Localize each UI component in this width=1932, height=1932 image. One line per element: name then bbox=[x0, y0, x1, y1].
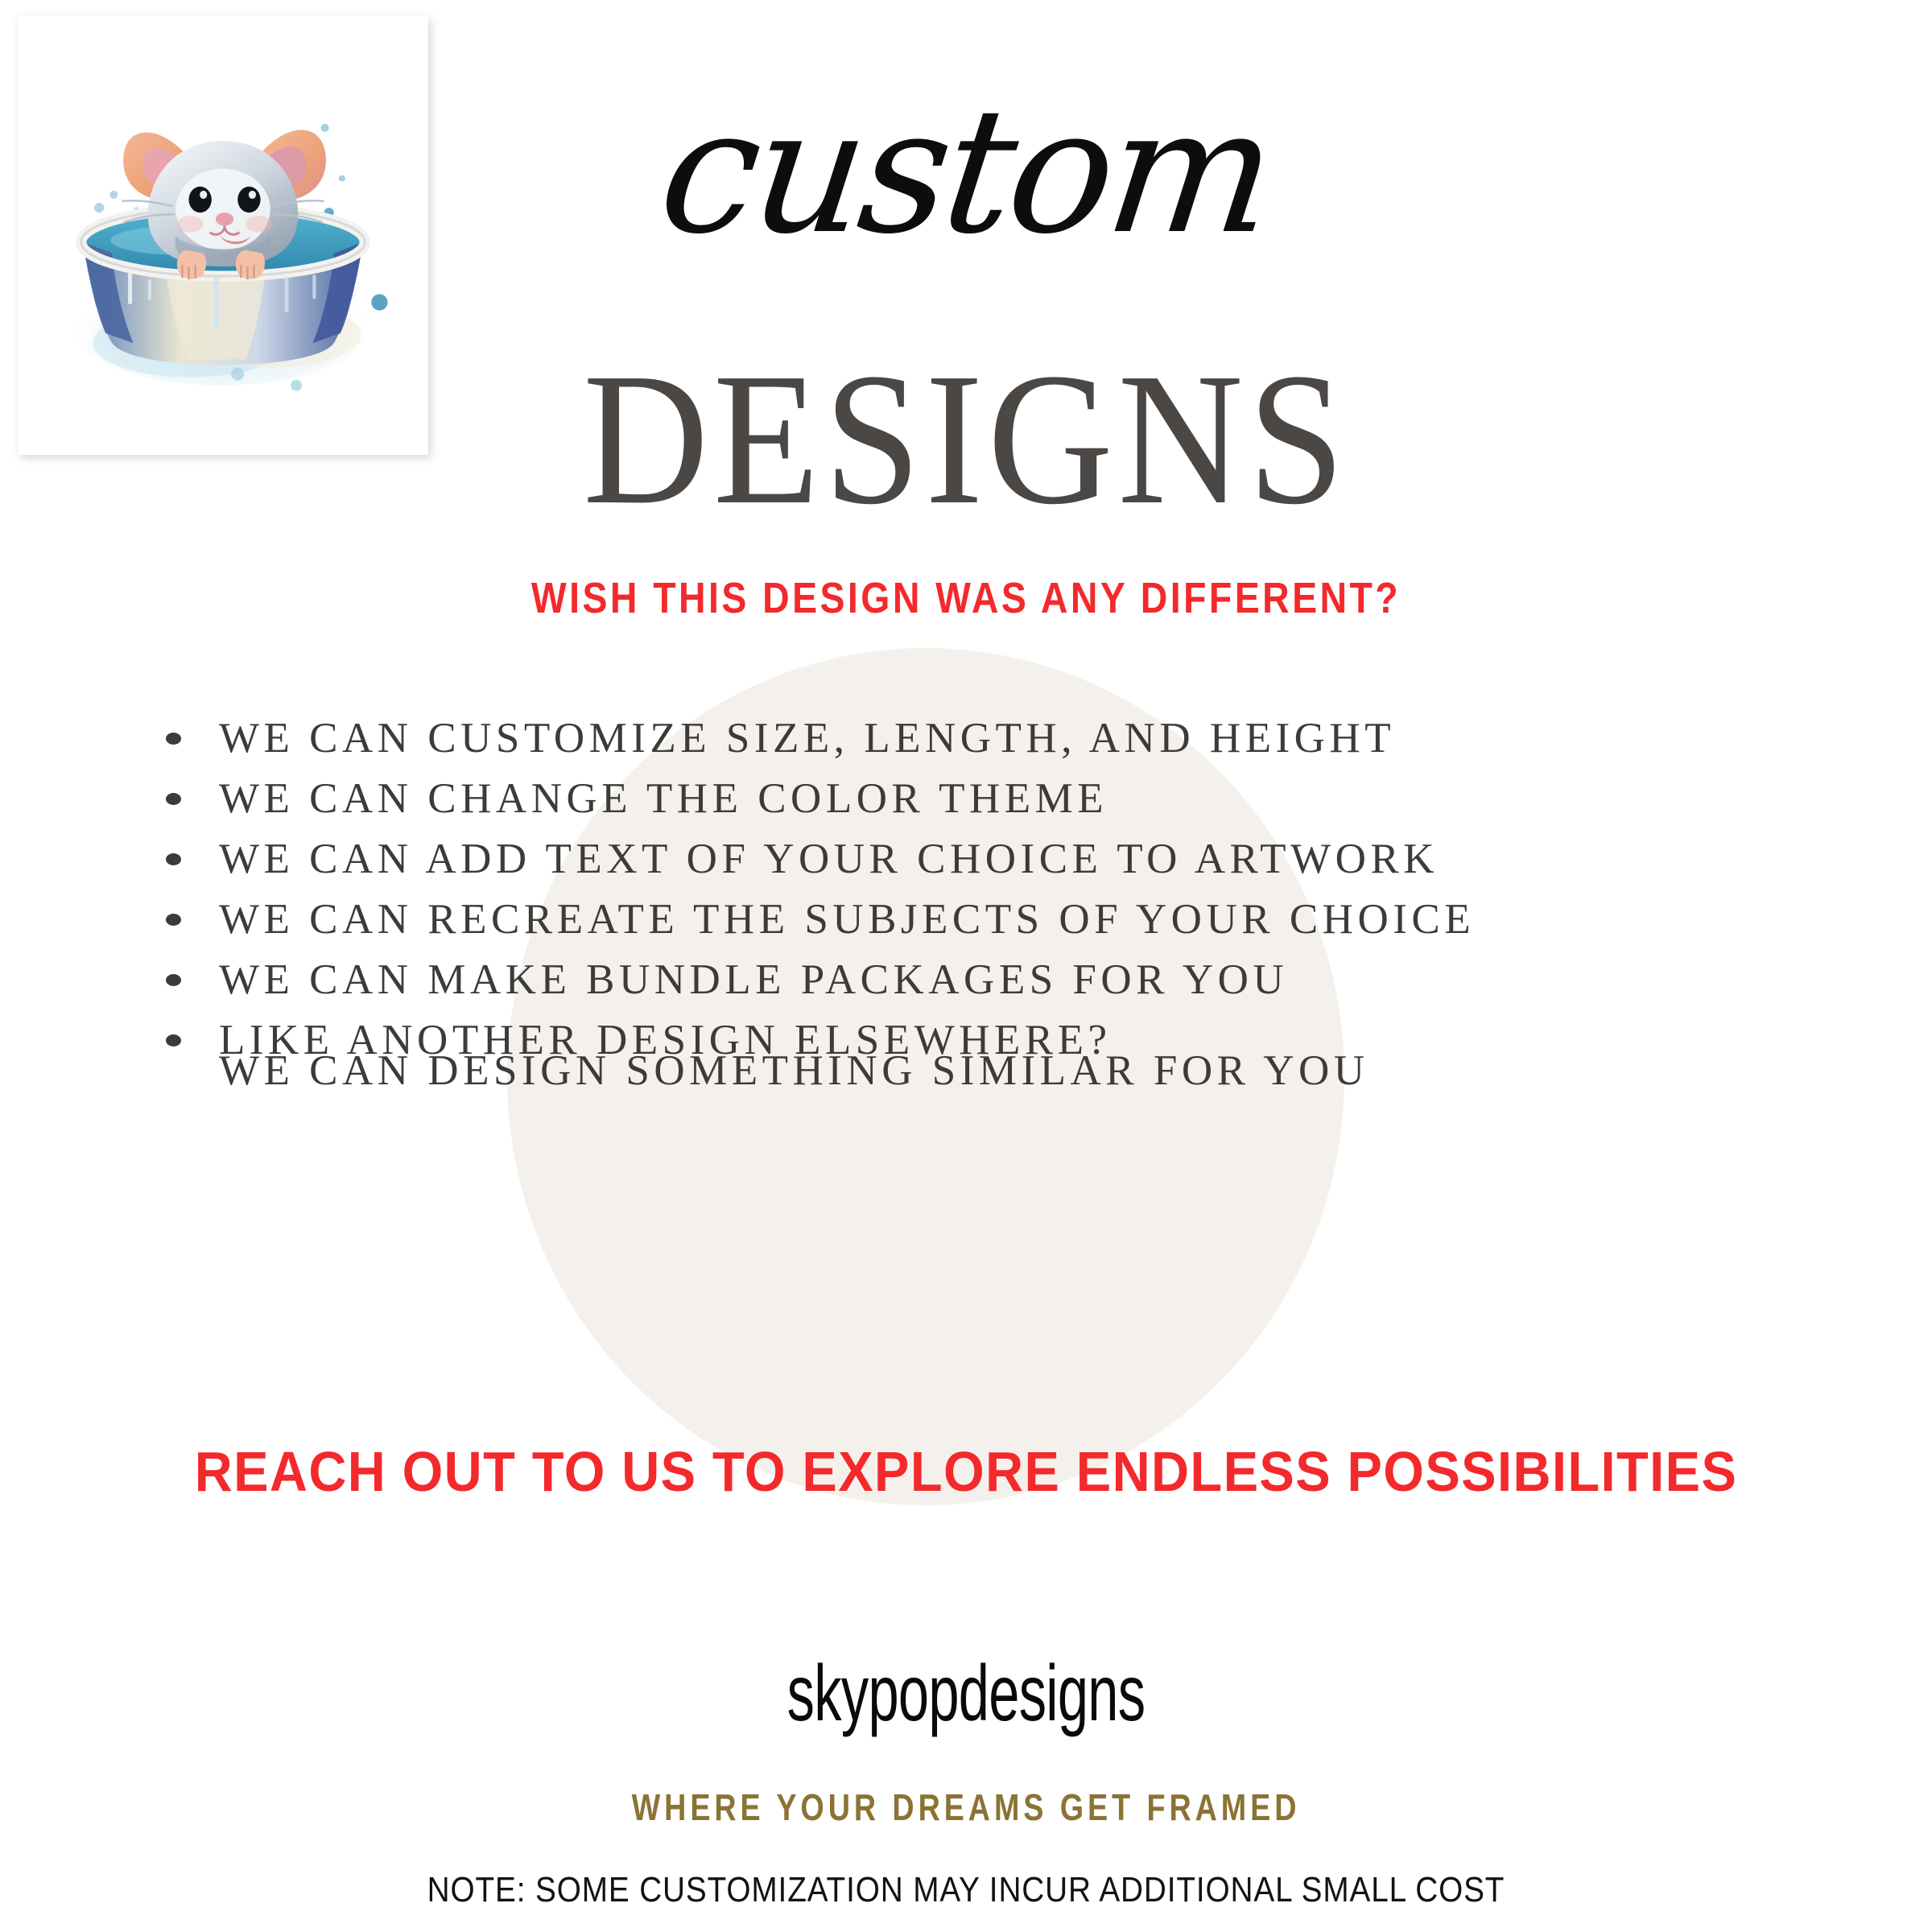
list-item-label: WE CAN RECREATE THE SUBJECTS OF YOUR CHO… bbox=[219, 896, 1475, 943]
brand-tagline: WHERE YOUR DREAMS GET FRAMED bbox=[174, 1789, 1758, 1826]
list-item: WE CAN ADD TEXT OF YOUR CHOICE TO ARTWOR… bbox=[161, 829, 1795, 890]
feature-list: WE CAN CUSTOMIZE SIZE, LENGTH, AND HEIGH… bbox=[161, 708, 1795, 1071]
list-item: WE CAN MAKE BUNDLE PACKAGES FOR YOU bbox=[161, 950, 1795, 1010]
bullet-dot-icon bbox=[166, 974, 181, 986]
call-to-action-text: REACH OUT TO US TO EXPLORE ENDLESS POSSI… bbox=[68, 1443, 1864, 1500]
mouse-in-bathtub-illustration bbox=[27, 26, 419, 445]
bullet-dot-icon bbox=[166, 733, 181, 745]
list-item-label: WE CAN ADD TEXT OF YOUR CHOICE TO ARTWOR… bbox=[219, 836, 1439, 882]
list-item-label: WE CAN MAKE BUNDLE PACKAGES FOR YOU bbox=[219, 956, 1288, 1003]
list-item-continuation: WE CAN DESIGN SOMETHING SIMILAR FOR YOU bbox=[219, 1041, 1369, 1101]
brand-logo-text: skypopdesigns bbox=[290, 1650, 1642, 1737]
bullet-dot-icon bbox=[166, 1034, 181, 1046]
artwork-frame bbox=[18, 16, 428, 455]
list-item: WE CAN RECREATE THE SUBJECTS OF YOUR CHO… bbox=[161, 890, 1795, 950]
bullet-dot-icon bbox=[166, 793, 181, 805]
footer-note: NOTE: SOME CUSTOMIZATION MAY INCUR ADDIT… bbox=[116, 1872, 1816, 1908]
bullet-dot-icon bbox=[166, 914, 181, 926]
list-item: WE CAN CHANGE THE COLOR THEME bbox=[161, 769, 1795, 829]
subheading-question: WISH THIS DESIGN WAS ANY DIFFERENT? bbox=[135, 576, 1797, 620]
list-item-label: WE CAN CUSTOMIZE SIZE, LENGTH, AND HEIGH… bbox=[219, 715, 1395, 762]
bullet-dot-icon bbox=[166, 853, 181, 865]
promo-graphic-canvas: custom DESIGNS WISH THIS DESIGN WAS ANY … bbox=[0, 0, 1932, 1932]
artwork-thumbnail bbox=[27, 26, 419, 445]
list-item: WE CAN CUSTOMIZE SIZE, LENGTH, AND HEIGH… bbox=[161, 708, 1795, 769]
list-item-label: WE CAN CHANGE THE COLOR THEME bbox=[219, 775, 1108, 822]
